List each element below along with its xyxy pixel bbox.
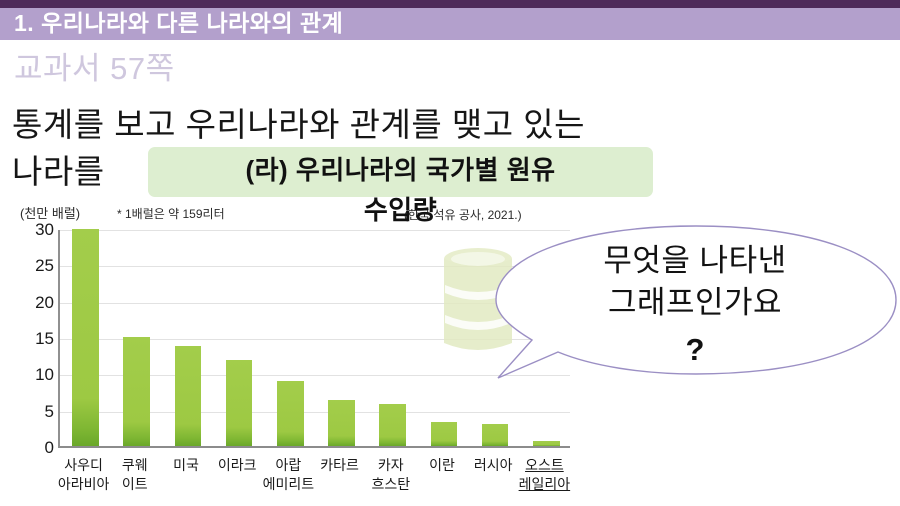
chart-bar (379, 404, 406, 446)
chart-title-line-1: (라) 우리나라의 국가별 원유 (148, 150, 653, 187)
page-title: 1. 우리나라와 다른 나라와의 관계 (14, 8, 343, 40)
y-axis-tick-label: 5 (20, 402, 54, 422)
speech-bubble-text: 무엇을 나타낸 그래프인가요 (520, 240, 870, 324)
y-axis-ticks: 051015202530 (20, 230, 54, 448)
chart-bar (431, 422, 458, 446)
chart-bar (175, 346, 202, 446)
chart-bar (328, 400, 355, 447)
slide-canvas: 1. 우리나라와 다른 나라와의 관계 교과서 57쪽 통계를 보고 우리나라와… (0, 0, 900, 506)
y-axis-tick-label: 25 (20, 256, 54, 276)
y-axis-tick-label: 15 (20, 329, 54, 349)
chart-bar (72, 229, 99, 446)
speech-bubble-question-mark: ? (520, 332, 870, 368)
body-text-line-2: 나라를 (12, 145, 105, 193)
chart-title-line-2: 수입량 (148, 190, 653, 227)
chart-bar (277, 381, 304, 446)
speech-bubble-line-2: 그래프인가요 (520, 282, 870, 324)
speech-bubble-line-1: 무엇을 나타낸 (520, 240, 870, 282)
y-axis-tick-label: 10 (20, 365, 54, 385)
y-axis-tick-label: 30 (20, 220, 54, 240)
chart-bar (226, 360, 253, 446)
textbook-page-subtitle: 교과서 57쪽 (14, 43, 175, 88)
chart-bar (123, 337, 150, 446)
chart-bar (482, 424, 509, 446)
chart-bar (533, 441, 560, 446)
x-axis-tick-label: 오스트 레일리아 (496, 456, 593, 494)
y-axis-tick-label: 20 (20, 293, 54, 313)
header-accent-strip (0, 0, 900, 8)
body-text-line-1: 통계를 보고 우리나라와 관계를 맺고 있는 (12, 98, 585, 146)
y-axis-tick-label: 0 (20, 438, 54, 458)
